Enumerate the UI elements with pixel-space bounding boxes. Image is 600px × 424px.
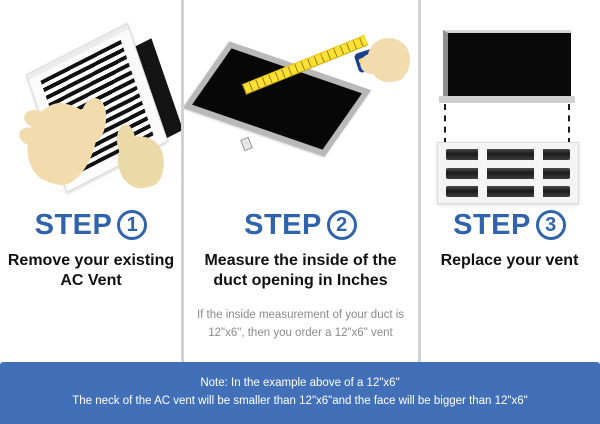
step-2-caption: STEP 2 Measure the inside of the duct op… <box>182 210 419 342</box>
replacement-vent-cover <box>437 142 579 204</box>
step-1-illustration <box>0 0 182 210</box>
vent-slat-grid <box>446 149 570 197</box>
alignment-dashed-line-left <box>444 104 446 144</box>
vent-mullion-1 <box>478 149 487 197</box>
note-banner: Note: In the example above of a 12"x6" T… <box>0 362 600 424</box>
step-3-word: STEP <box>453 211 531 240</box>
measuring-duct-art <box>196 38 411 173</box>
step-1-caption: STEP 1 Remove your existing AC Vent <box>0 210 182 291</box>
step-3-heading: STEP 3 <box>425 210 594 240</box>
vent-slat-row-1 <box>446 149 570 160</box>
step-3-illustration <box>419 0 600 210</box>
hands-removing-vent-art <box>26 30 176 190</box>
vent-slat-row-2 <box>446 168 570 179</box>
step-3-description: Replace your vent <box>425 251 594 271</box>
step-1-description: Remove your existing AC Vent <box>6 251 176 291</box>
step-2-number-badge: 2 <box>327 210 357 240</box>
column-divider-left <box>181 0 184 362</box>
step-3-caption: STEP 3 Replace your vent <box>419 210 600 271</box>
step-1-number-badge: 1 <box>117 210 147 240</box>
step-2-word: STEP <box>244 211 322 240</box>
step-2-subtext: If the inside measurement of your duct i… <box>188 307 413 342</box>
step-column-2: STEP 2 Measure the inside of the duct op… <box>182 0 419 362</box>
step-column-3: STEP 3 Replace your vent <box>419 0 600 362</box>
step-1-heading: STEP 1 <box>6 210 176 240</box>
note-line-1: Note: In the example above of a 12"x6" <box>200 375 399 393</box>
step-2-illustration <box>182 0 419 210</box>
step-1-word: STEP <box>35 211 113 240</box>
alignment-dashed-line-right <box>568 104 570 144</box>
hand-holding-tape-icon <box>366 36 412 84</box>
step-2-heading: STEP 2 <box>188 210 413 240</box>
duct-opening-interior <box>192 48 362 149</box>
note-line-2: The neck of the AC vent will be smaller … <box>72 393 528 411</box>
column-divider-right <box>418 0 421 362</box>
duct-opening-black <box>443 30 571 98</box>
duct-opening-frame <box>183 41 371 156</box>
vent-mullion-2 <box>534 149 543 197</box>
step-3-number-badge: 3 <box>536 210 566 240</box>
replace-vent-art <box>435 20 585 200</box>
step-column-1: STEP 1 Remove your existing AC Vent <box>0 0 182 362</box>
right-hand-thumb <box>117 124 136 155</box>
tape-measure-hook <box>240 137 253 151</box>
step-2-description: Measure the inside of the duct opening i… <box>188 251 413 291</box>
vent-slat-row-3 <box>446 186 570 197</box>
ac-vent-sizing-infographic: STEP 1 Remove your existing AC Vent <box>0 0 600 424</box>
duct-bottom-edge <box>439 96 575 103</box>
steps-row: STEP 1 Remove your existing AC Vent <box>0 0 600 362</box>
